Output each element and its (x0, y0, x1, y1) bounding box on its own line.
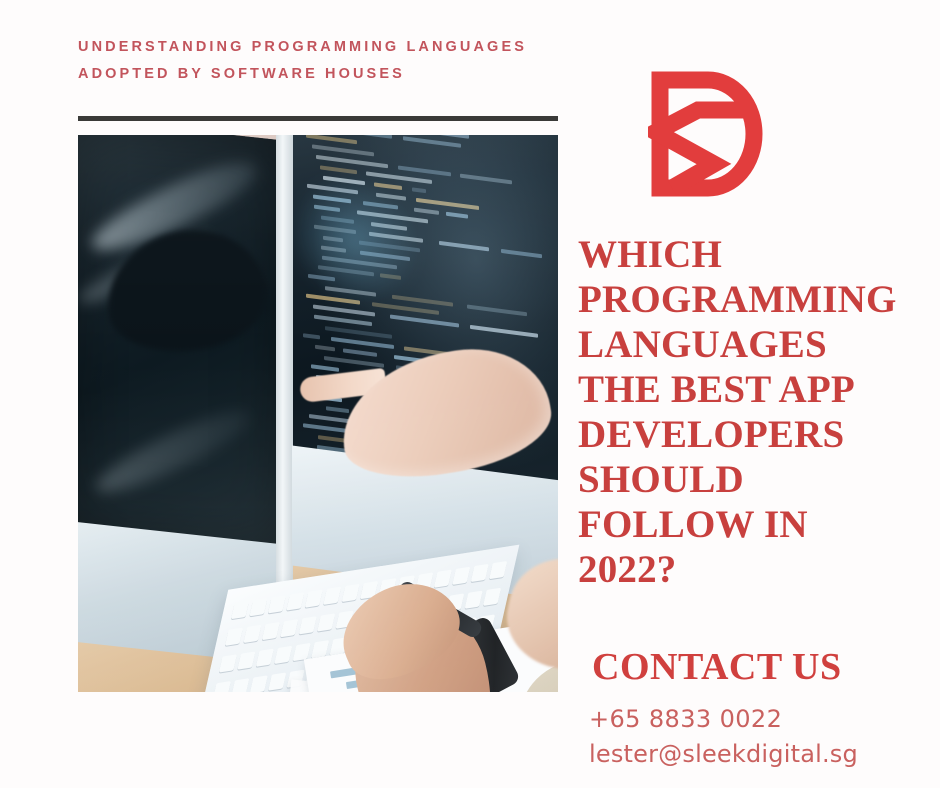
divider (78, 116, 558, 121)
photo-monitor-bezel (276, 135, 293, 596)
brand-logo (648, 60, 846, 208)
hero-photo (78, 135, 558, 692)
contact-phone[interactable]: +65 8833 0022 (589, 705, 782, 733)
page-title: WHICH PROGRAMMING LANGUAGES THE BEST APP… (578, 232, 908, 592)
eyebrow-heading: UNDERSTANDING PROGRAMMING LANGUAGES ADOP… (78, 34, 548, 88)
sd-monogram-icon (648, 70, 766, 198)
poster: UNDERSTANDING PROGRAMMING LANGUAGES ADOP… (0, 0, 940, 788)
contact-heading: CONTACT US (592, 645, 842, 689)
contact-email[interactable]: lester@sleekdigital.sg (589, 740, 858, 768)
